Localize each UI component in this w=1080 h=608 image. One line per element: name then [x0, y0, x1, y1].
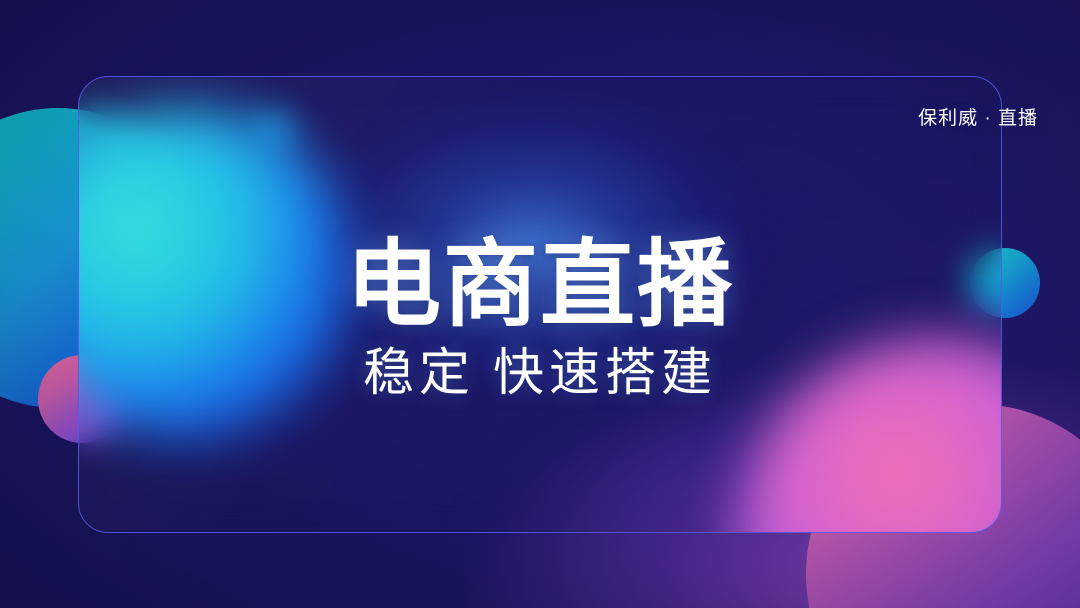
brand-watermark: 保利威 · 直播 [918, 103, 1038, 130]
frame-border-bottom-right [338, 215, 1002, 534]
presentation-slide: 保利威 · 直播 电商直播 稳定快速搭建 [0, 0, 1080, 608]
glass-frame [78, 76, 1002, 533]
